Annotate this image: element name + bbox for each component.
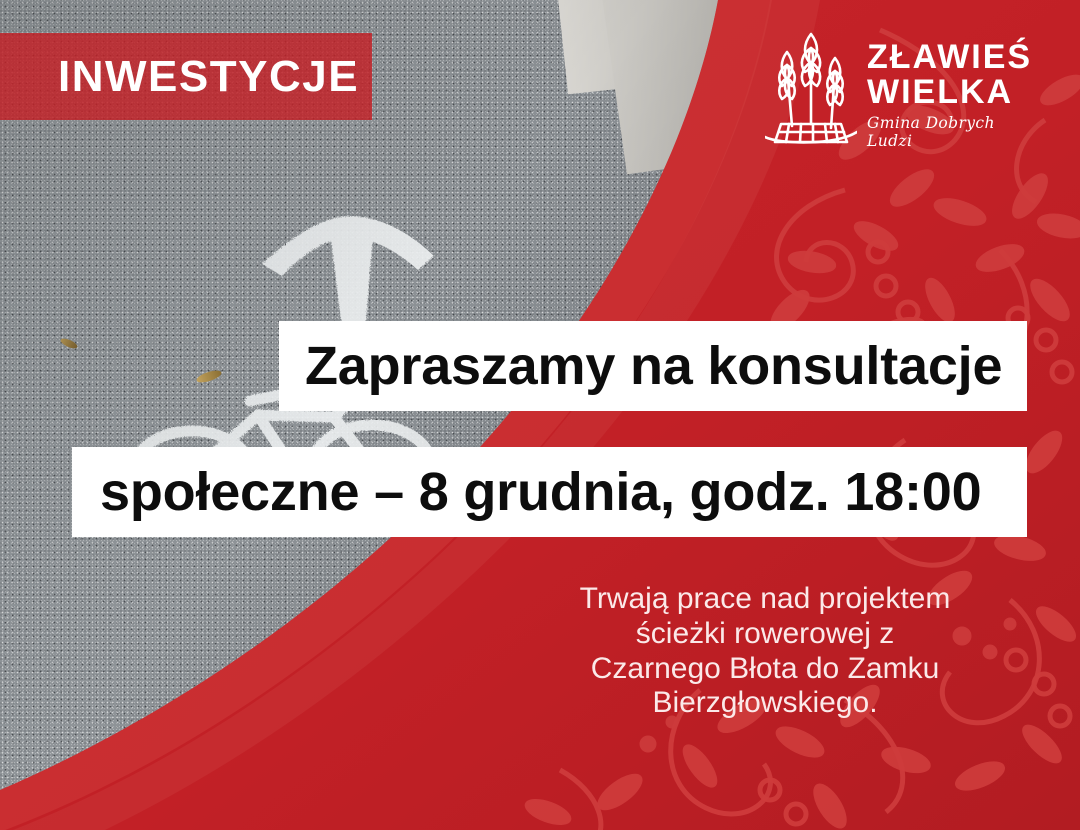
headline-band-2: społeczne – 8 grudnia, godz. 18:00 <box>72 447 1027 537</box>
logo-line-2: WIELKA <box>867 75 1040 110</box>
logo-line-1: ZŁAWIEŚ <box>867 40 1040 75</box>
poster: INWESTYCJE <box>0 0 1080 830</box>
headline-band-1: Zapraszamy na konsultacje <box>279 321 1027 411</box>
logo-text: ZŁAWIEŚ WIELKA Gmina Dobrych Ludzi <box>867 28 1040 150</box>
logo-tagline: Gmina Dobrych Ludzi <box>867 114 1040 150</box>
category-banner: INWESTYCJE <box>0 33 372 120</box>
headline-line-1: Zapraszamy na konsultacje <box>279 339 1002 393</box>
category-banner-label: INWESTYCJE <box>0 55 359 99</box>
headline-line-2: społeczne – 8 grudnia, godz. 18:00 <box>72 465 981 519</box>
logo[interactable]: ZŁAWIEŚ WIELKA Gmina Dobrych Ludzi <box>765 28 1040 148</box>
body-paragraph: Trwają prace nad projektem ścieżki rower… <box>540 582 990 721</box>
wheat-sheaf-icon <box>765 28 857 146</box>
